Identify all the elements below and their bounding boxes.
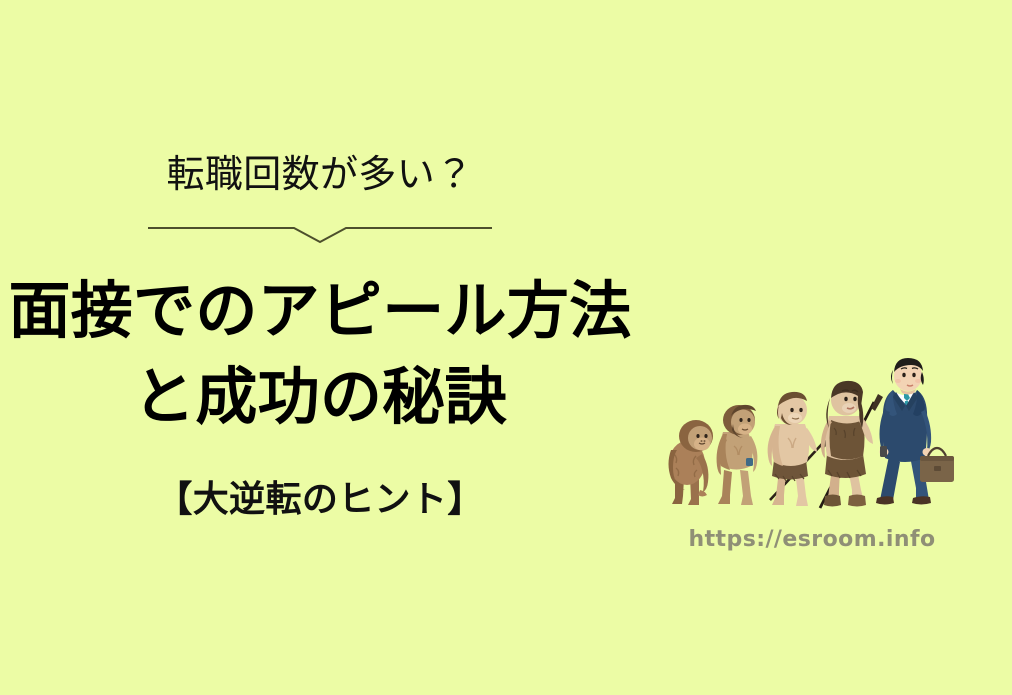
figure-businessman-icon (876, 358, 954, 505)
divider-line (148, 228, 492, 242)
headline-line-2: と成功の秘訣 (0, 354, 640, 440)
figure-spear-hunter-icon (820, 381, 883, 508)
figure-ape-icon (669, 420, 714, 505)
site-url-text: https://esroom.info (662, 527, 962, 552)
eyecatch-canvas: 転職回数が多い？ 面接でのアピール方法 と成功の秘訣 【大逆転のヒント】 (0, 0, 1012, 695)
subtitle-text: 【大逆転のヒント】 (0, 478, 640, 521)
headline: 面接でのアピール方法 と成功の秘訣 (0, 268, 640, 439)
human-evolution-illustration (662, 358, 962, 518)
v-notch-divider (148, 222, 492, 248)
text-block: 転職回数が多い？ 面接でのアピール方法 と成功の秘訣 【大逆転のヒント】 (0, 0, 660, 695)
figure-early-hominid-icon (717, 405, 758, 505)
headline-line-1: 面接でのアピール方法 (0, 268, 640, 354)
kicker-text: 転職回数が多い？ (0, 152, 640, 198)
